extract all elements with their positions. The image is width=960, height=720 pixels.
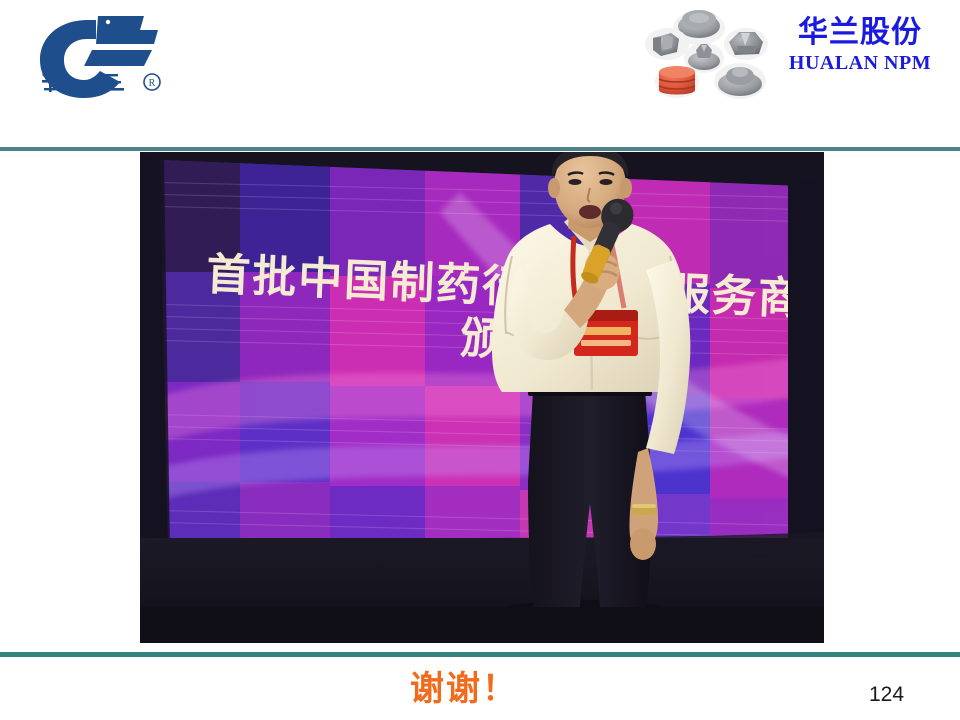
brand-wordmark: 华兰股份 HUALAN NPM: [775, 18, 945, 73]
slide-header: R: [0, 0, 960, 148]
rubber-stopper-product-cluster: [641, 6, 783, 106]
hualan-cl-monogram-logo: R: [26, 8, 176, 104]
slide-footer: 谢谢！ 124: [0, 657, 960, 720]
award-ceremony-stage-photo: 首批中国制药行业品牌服务商 颁奖仪式: [140, 152, 824, 643]
brand-name-cn: 华兰股份: [775, 18, 945, 48]
registered-mark-icon: R: [144, 74, 160, 90]
thanks-text: 谢谢！: [410, 661, 518, 710]
page-number: 124: [869, 683, 904, 707]
svg-text:R: R: [149, 78, 156, 89]
brand-name-en: HUALAN NPM: [775, 53, 945, 73]
slide-body: 首批中国制药行业品牌服务商 颁奖仪式: [0, 151, 960, 652]
